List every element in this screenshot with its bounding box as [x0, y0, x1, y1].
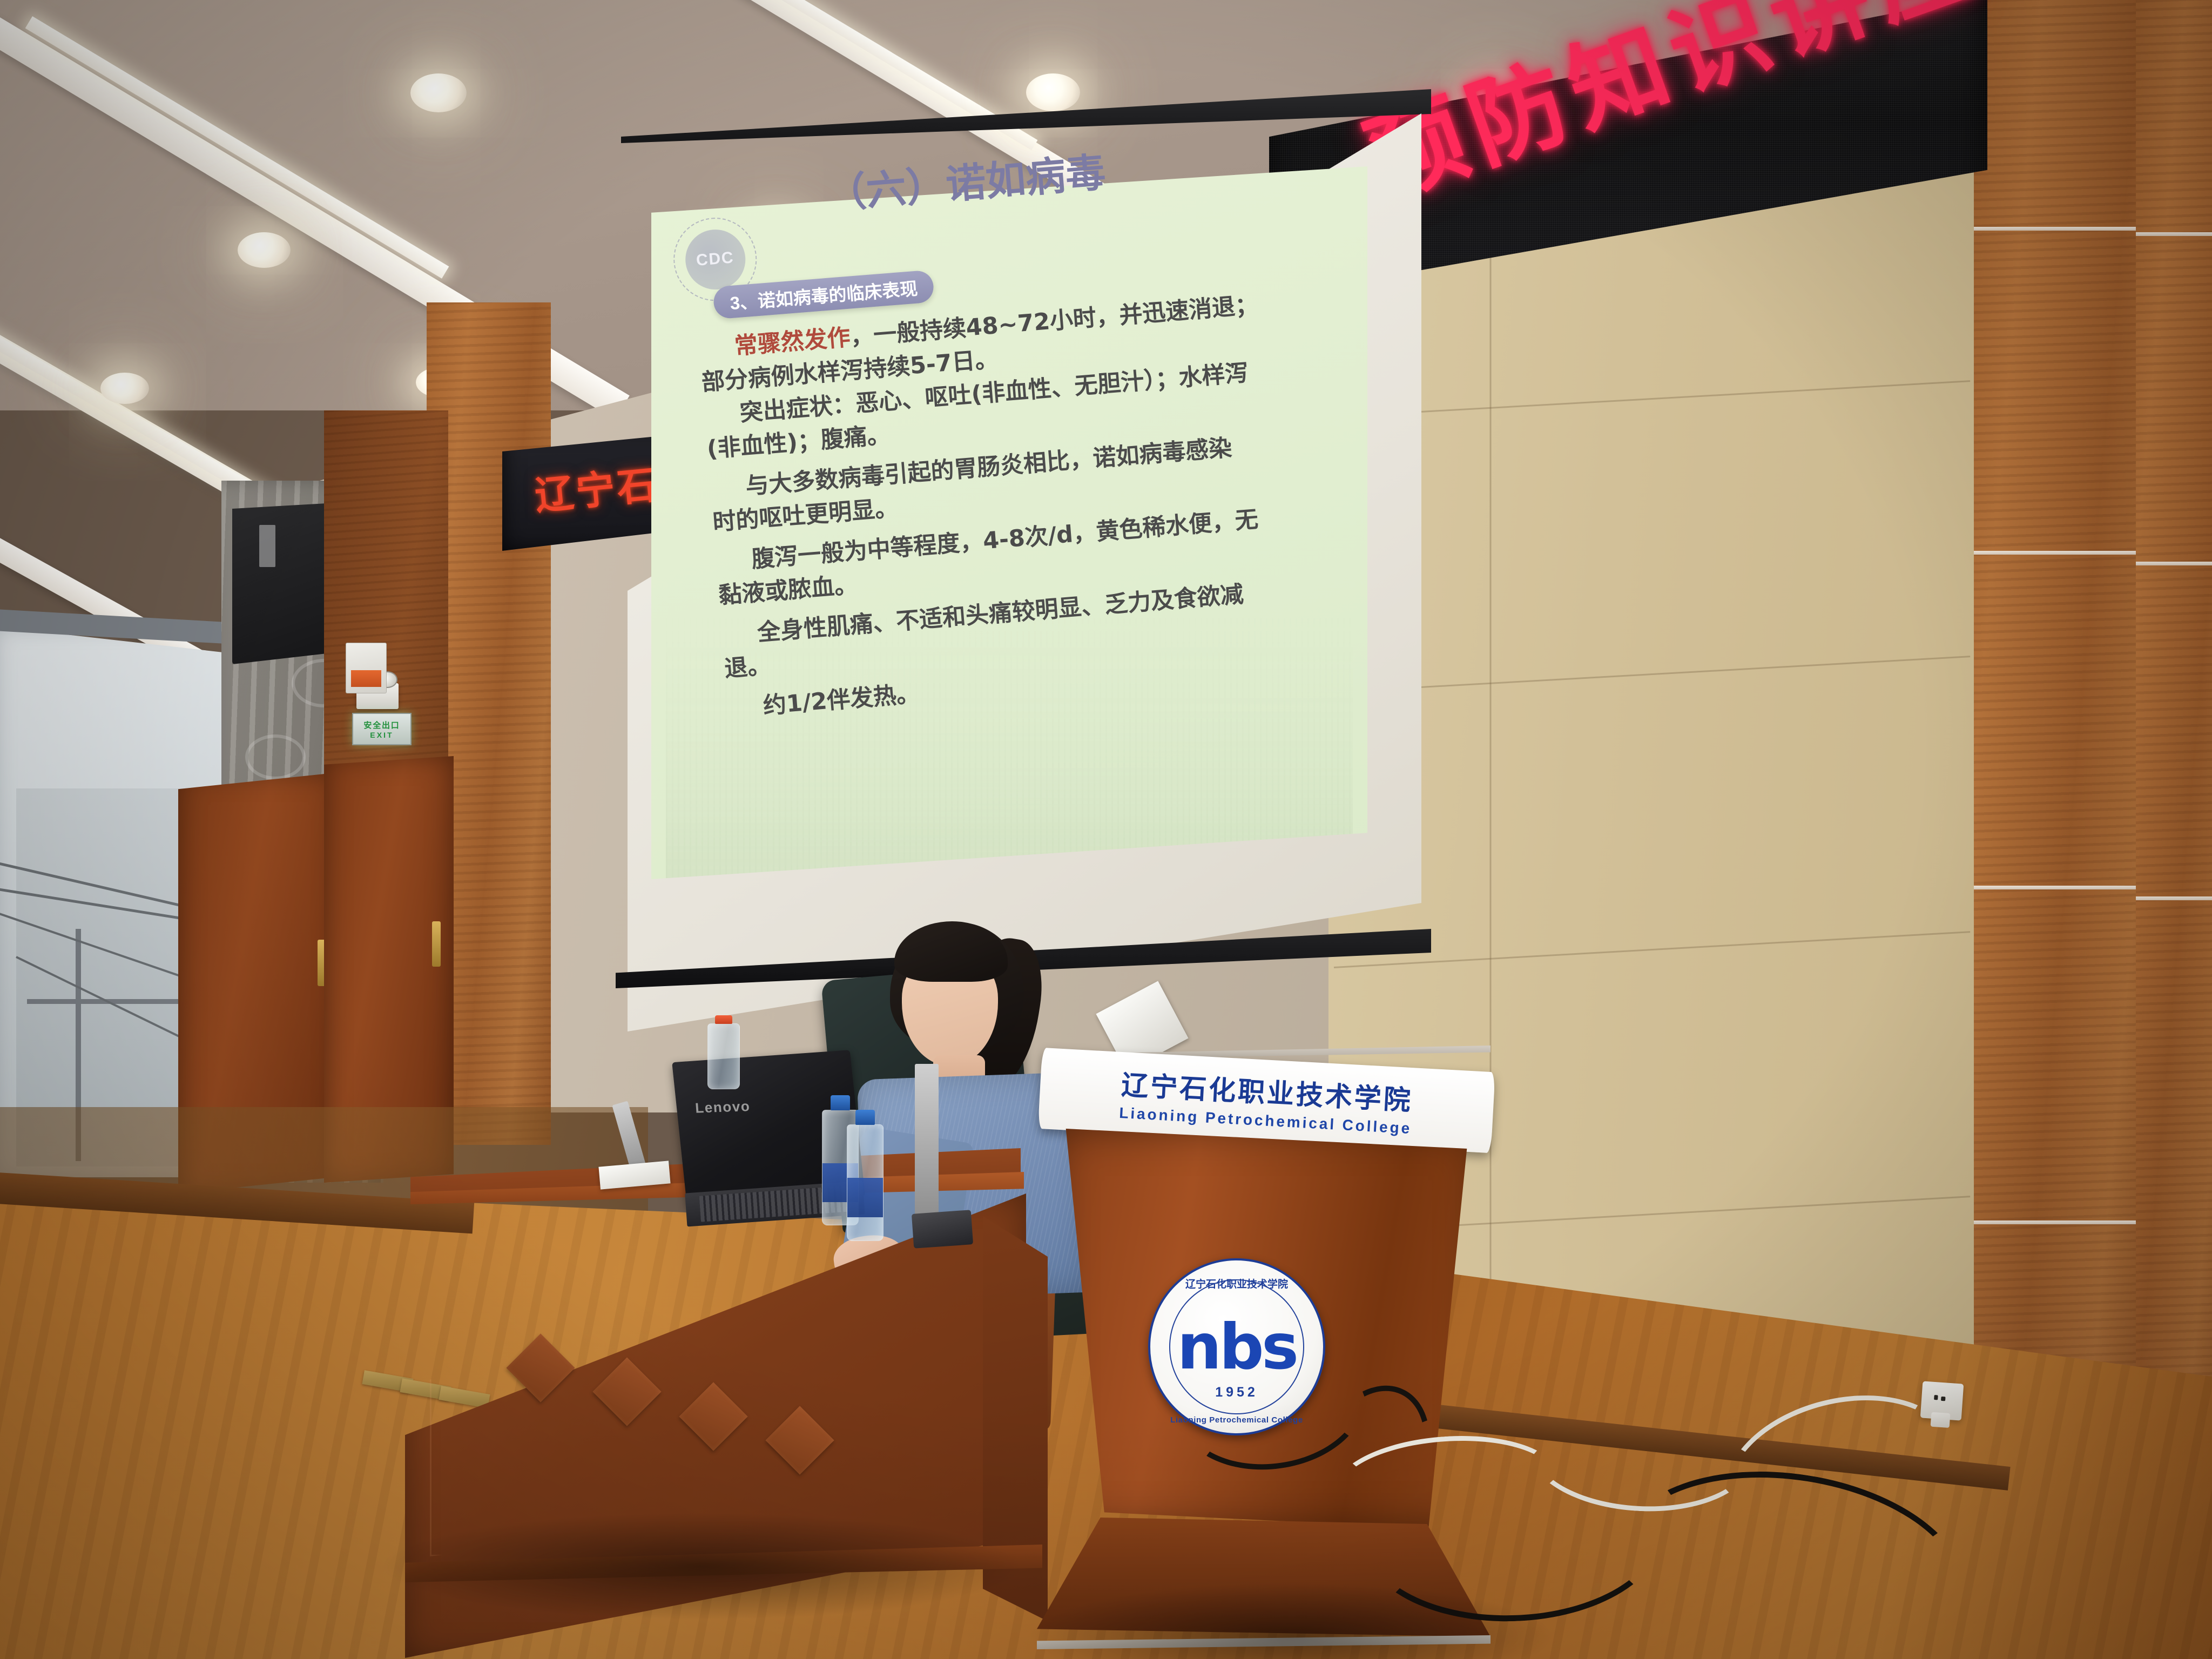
microphone-head[interactable]: [912, 1210, 973, 1249]
downlight-1: [410, 73, 467, 112]
outlet-hole-right: [1941, 1397, 1945, 1401]
bottle-label-2: [847, 1178, 883, 1217]
bottle-cap-blue-1: [831, 1095, 851, 1110]
laptop-brand-label: Lenovo: [694, 1098, 751, 1116]
exit-sign-cn: 安全出口: [363, 719, 400, 731]
door-handle-right[interactable]: [432, 921, 441, 967]
bottle-cap-orange: [715, 1015, 733, 1024]
exit-sign: 安全出口 EXIT: [352, 713, 412, 745]
slide-line-4: (非血性)；腹痛。: [705, 416, 891, 464]
slide-line-1-pre: 常: [733, 331, 759, 360]
desk-floor-shadow: [378, 1512, 1026, 1620]
presenter-hair-front: [894, 921, 1008, 982]
microphone-stand[interactable]: [915, 1064, 939, 1220]
slide-text-layer: （六）诺如病毒 CDC 3、诺如病毒的临床表现 常骤然发作，一般持续48~72小…: [651, 115, 1422, 882]
slide-line-8: 黏液或脓血。: [717, 566, 859, 610]
speaker-slot: [259, 525, 275, 567]
downlight-6: [100, 373, 149, 404]
control-plate-tag: [351, 670, 381, 687]
slide-line-11: 约1/2伴发热。: [761, 675, 921, 721]
outlet-hole-left: [1934, 1395, 1938, 1400]
downlight-4: [238, 232, 291, 268]
slide-line-6: 时的呕吐更明显。: [711, 489, 899, 537]
curtain-pattern-3: [245, 734, 306, 780]
cdc-logo-label: CDC: [683, 227, 747, 291]
water-bottle-back[interactable]: [707, 1023, 740, 1089]
wall-control-plate: [346, 643, 387, 693]
emblem-top-text: 辽宁石化职业技术学院: [1150, 1276, 1323, 1291]
water-bottle-2[interactable]: [847, 1124, 884, 1241]
bottle-cap-blue-2: [855, 1110, 875, 1125]
slide-line-10: 退。: [723, 646, 772, 684]
exit-sign-en: EXIT: [370, 731, 393, 739]
lecture-hall-photo: 预防知识讲座 辽宁石化 （六）诺如病毒 CDC 3、诺如病毒的临床表现 常骤然发…: [0, 0, 2212, 1659]
